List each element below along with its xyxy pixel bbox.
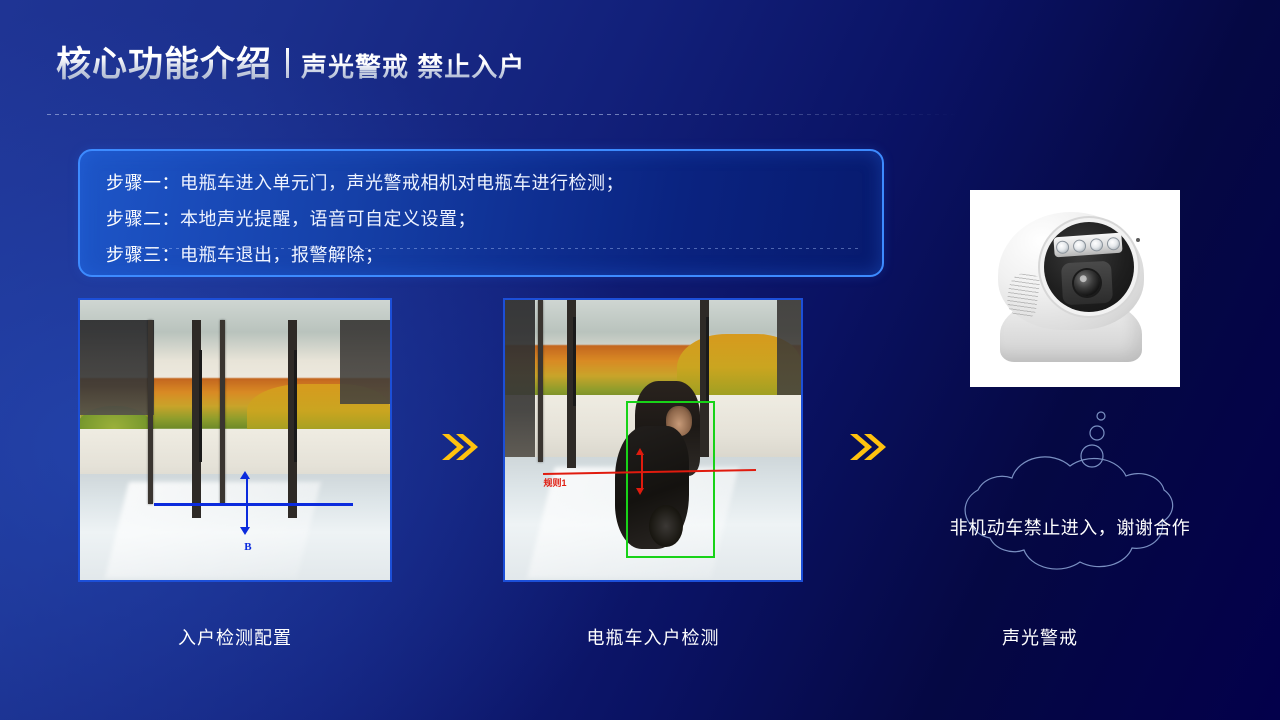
scene-door-handle-right-2 (706, 317, 709, 401)
step-item-2-text: 本地声光提醒，语音可自定义设置； (180, 209, 476, 229)
steps-divider (106, 248, 860, 249)
camera-lens-housing (1061, 261, 1113, 306)
scene-glass-panel-right-2 (777, 300, 801, 395)
thought-bubble-shape (900, 396, 1240, 596)
camera-led-4-icon (1107, 236, 1121, 250)
scene-door-handle-left (199, 350, 202, 462)
page-title: 核心功能介绍 声光警戒 禁止入户 (56, 36, 525, 87)
alarm-arrow-up-head (636, 448, 644, 455)
camera-product-image (970, 190, 1180, 387)
step-item-2: 步骤二：本地声光提醒，语音可自定义设置； (106, 201, 882, 237)
scene-ebike: 规则1 (505, 300, 801, 580)
step-item-2-label: 步骤二： (106, 209, 180, 229)
thought-bubble: 非机动车禁止进入，谢谢合作 (900, 396, 1240, 596)
step-item-1-label: 步骤一： (106, 173, 180, 193)
caption-device: 声光警戒 (935, 624, 1145, 650)
camera-led-3-icon (1090, 237, 1104, 251)
camera-lens-icon (1073, 269, 1100, 296)
chevron-right-double-icon-1 (435, 425, 479, 469)
camera-led-bar (1053, 233, 1122, 258)
step-item-1-text: 电瓶车进入单元门，声光警戒相机对电瓶车进行检测； (180, 173, 624, 193)
scene-floor (80, 474, 390, 580)
scene-door-handle-right (294, 350, 297, 462)
step-item-3: 步骤三：电瓶车退出，报警解除； (106, 237, 882, 273)
direction-arrow-down-head (240, 527, 250, 535)
camera-led-2-icon (1073, 239, 1087, 253)
slide-root: 核心功能介绍 声光警戒 禁止入户 步骤一：电瓶车进入单元门，声光警戒相机对电瓶车… (0, 0, 1280, 720)
step-item-1: 步骤一：电瓶车进入单元门，声光警戒相机对电瓶车进行检测； (106, 165, 882, 201)
scene-mullion-1 (148, 320, 153, 505)
alarm-arrow-down-head (636, 488, 644, 495)
camera-led-1-icon (1056, 240, 1070, 254)
scene-glass-panel-left-2 (505, 300, 535, 457)
scene-entrance: B (80, 300, 390, 580)
detection-box-green (626, 401, 715, 558)
direction-arrow-up-head (240, 471, 250, 479)
camera-mic-hole-icon (1136, 238, 1140, 242)
scene-glass-panel-right (340, 320, 390, 404)
scene-glass-panel-left (80, 320, 154, 415)
title-underline-dashed (47, 114, 962, 115)
page-title-sub: 声光警戒 禁止入户 (301, 47, 525, 84)
scene-door-handle-left-2 (573, 317, 576, 407)
photo-ebike-detection: 规则1 (503, 298, 803, 582)
rule-label: 规则1 (543, 476, 566, 489)
steps-panel: 步骤一：电瓶车进入单元门，声光警戒相机对电瓶车进行检测； 步骤二：本地声光提醒，… (78, 149, 884, 277)
caption-photo-2: 电瓶车入户检测 (503, 624, 803, 650)
scene-mullion-2 (220, 320, 225, 505)
camera-body (992, 210, 1152, 362)
direction-label: B (244, 541, 251, 553)
camera-face-plate (1044, 222, 1134, 312)
scene-mullion-3 (538, 300, 543, 462)
direction-arrow-up-stem (246, 476, 248, 507)
photo-entrance-config: B (78, 298, 392, 582)
title-divider (286, 48, 289, 78)
chevron-right-double-icon-2 (843, 425, 887, 469)
thought-bubble-text: 非机动车禁止进入，谢谢合作 (900, 514, 1240, 540)
alarm-arrow-stem (641, 454, 643, 490)
caption-photo-1: 入户检测配置 (78, 624, 392, 650)
page-title-main: 核心功能介绍 (56, 36, 272, 87)
detection-line-blue (154, 503, 352, 506)
